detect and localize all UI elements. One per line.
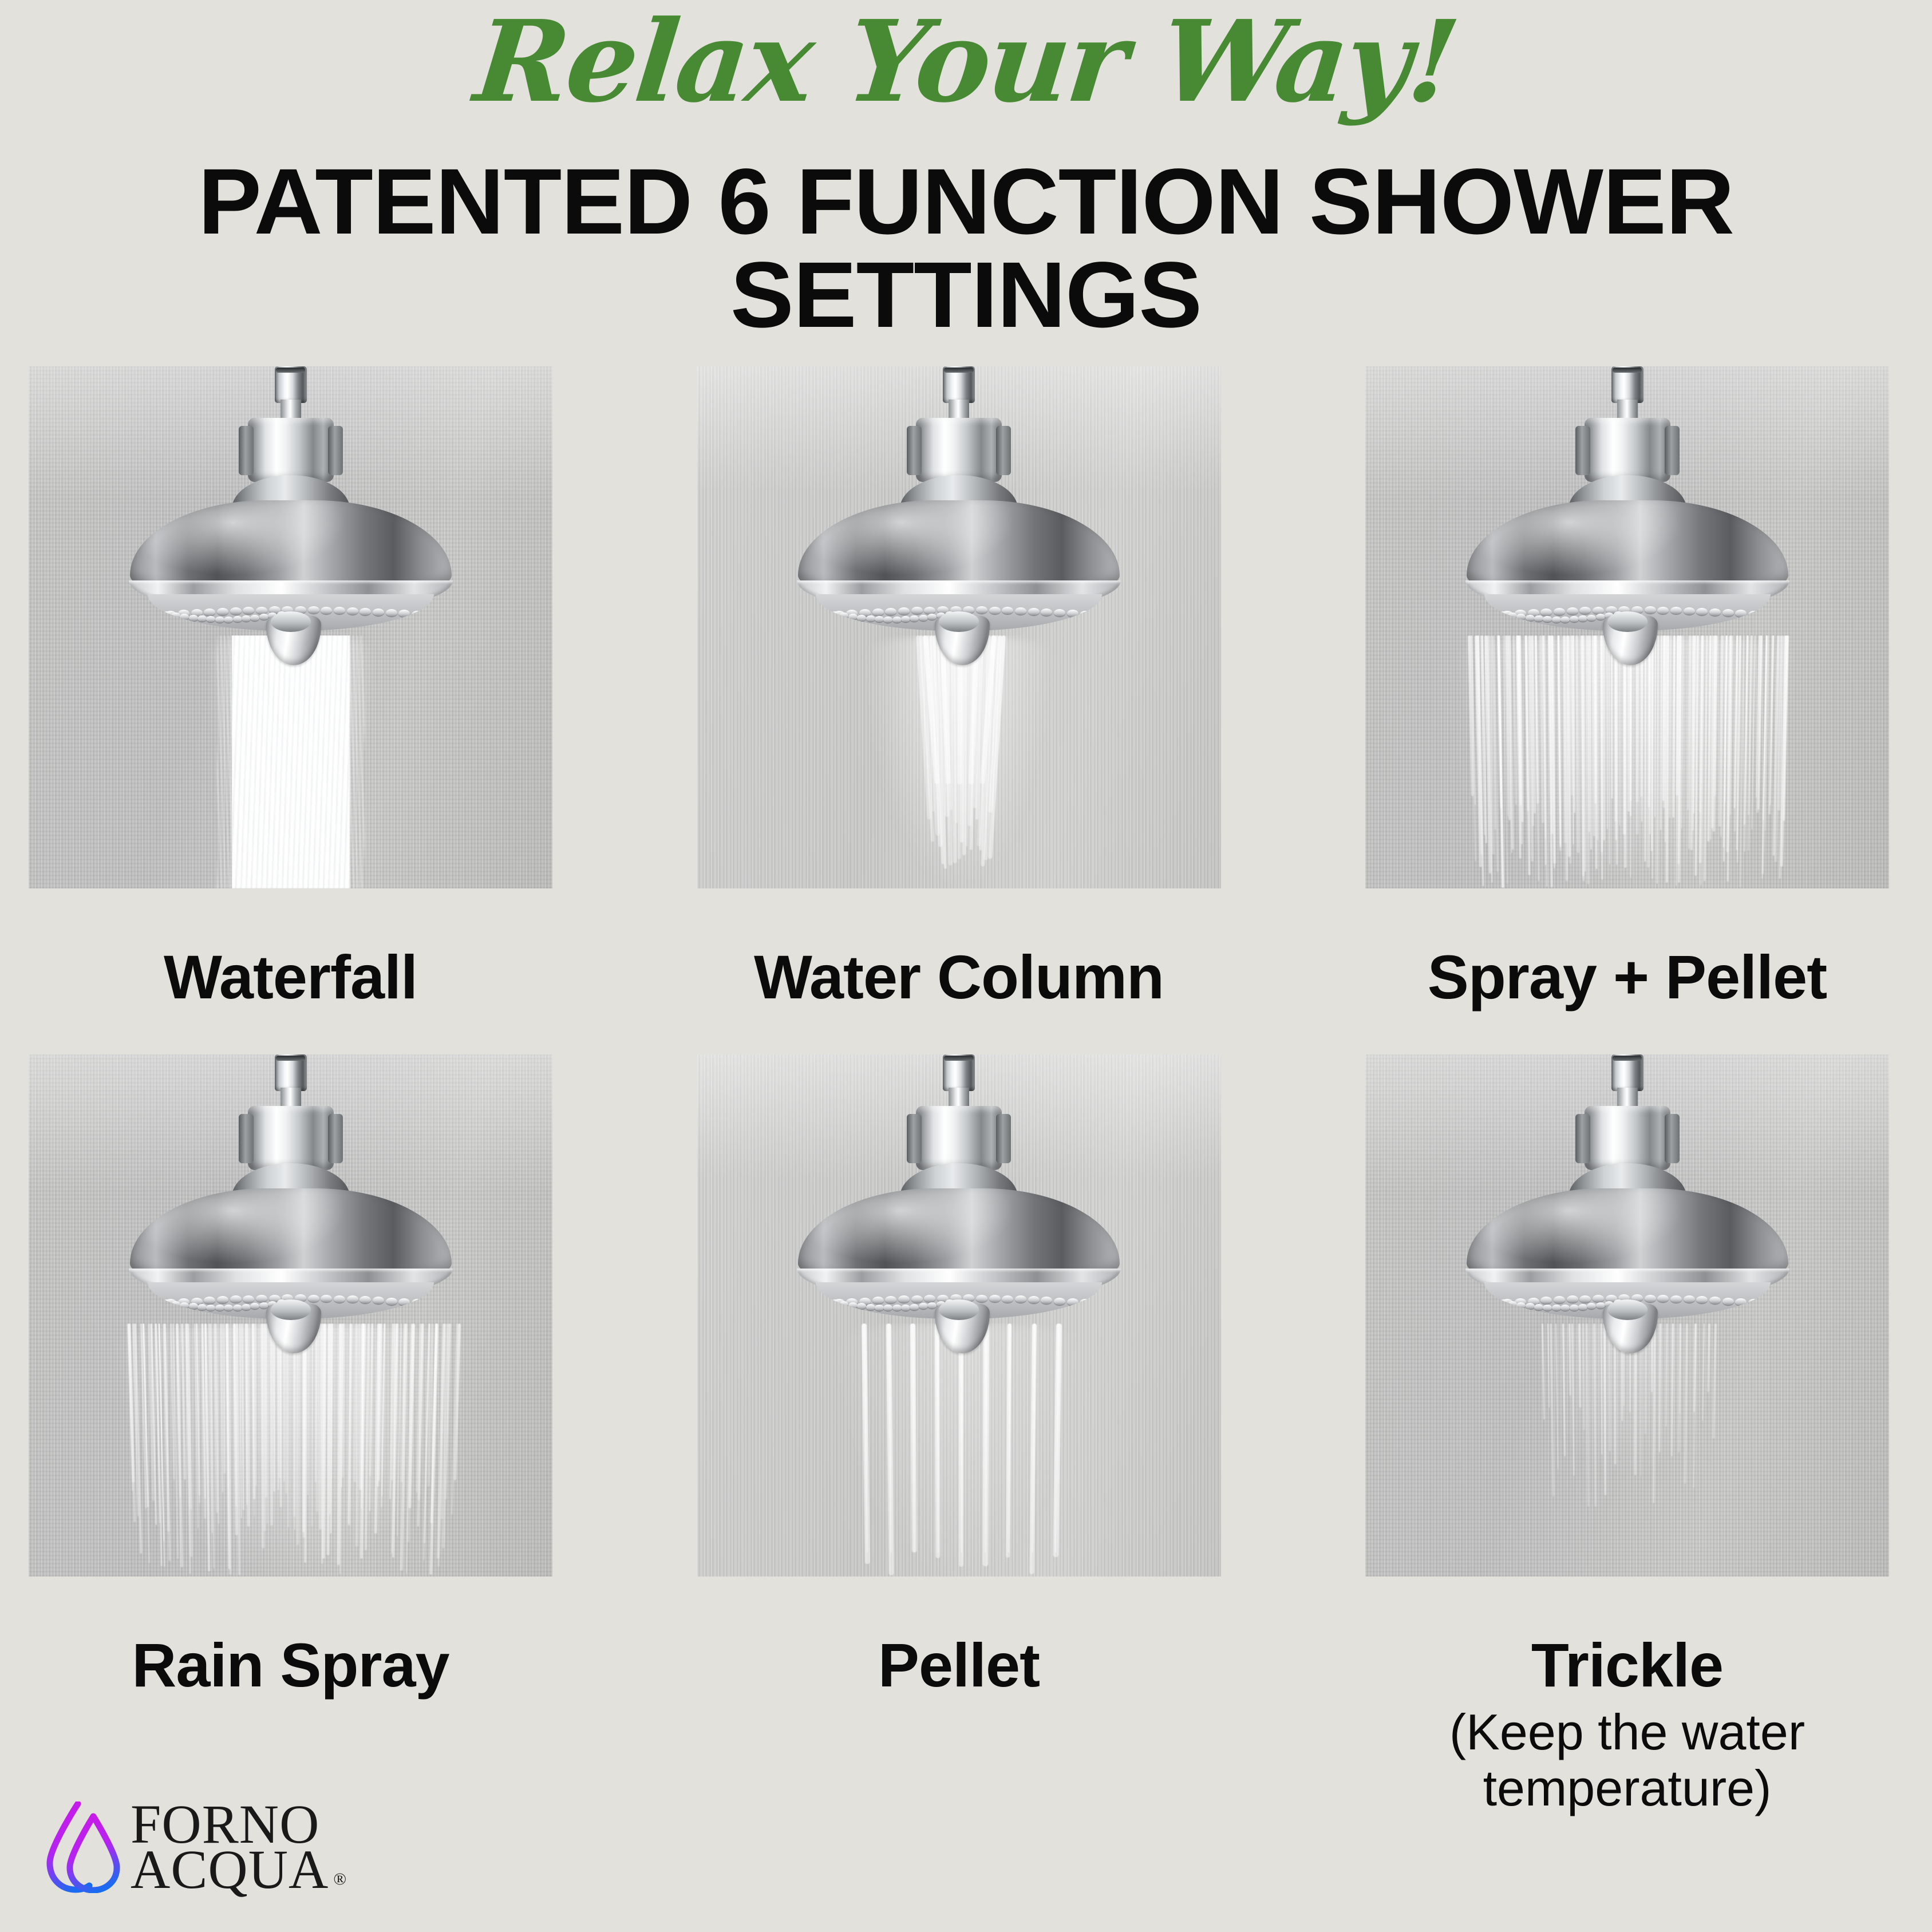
setting-label: Rain Spray (29, 1633, 552, 1698)
water-pattern-rain (29, 1323, 552, 1577)
shower-head-icon (1467, 366, 1788, 555)
shower-photo-water-column (697, 366, 1221, 888)
setting-sublabel: (Keep the watertemperature) (1365, 1704, 1889, 1817)
setting-card-trickle[interactable]: Trickle (Keep the watertemperature) (1365, 1054, 1889, 1817)
setting-card-water-column[interactable]: Water Column (697, 366, 1221, 1010)
logo-line-2: ACQUA (131, 1847, 329, 1893)
setting-label: Pellet (697, 1633, 1221, 1698)
page-title: PATENTED 6 FUNCTION SHOWER SETTINGS (0, 155, 1932, 341)
shower-head-icon (799, 366, 1119, 555)
water-pattern-spray-pellet (1365, 635, 1889, 888)
setting-card-waterfall[interactable]: Waterfall (29, 366, 552, 1010)
shower-photo-waterfall (29, 366, 552, 888)
shower-photo-spray-pellet (1365, 366, 1889, 888)
setting-label: Waterfall (29, 945, 552, 1010)
shower-head-icon (1467, 1054, 1788, 1243)
shower-photo-trickle (1365, 1054, 1889, 1577)
shower-head-icon (131, 1054, 451, 1243)
shower-photo-rain-spray (29, 1054, 552, 1577)
setting-card-pellet[interactable]: Pellet (697, 1054, 1221, 1817)
water-pattern-pellet (697, 1323, 1221, 1577)
settings-row-2: Rain Spray Pellet (29, 1054, 1889, 1817)
water-drop-icon (45, 1801, 121, 1893)
brand-logo: FORNO ACQUA ® (45, 1801, 347, 1893)
setting-card-rain-spray[interactable]: Rain Spray (29, 1054, 552, 1817)
water-pattern-column (697, 635, 1221, 888)
setting-label: Spray + Pellet (1365, 945, 1889, 1010)
water-pattern-waterfall (29, 635, 552, 888)
shower-head-icon (799, 1054, 1119, 1243)
water-pattern-trickle (1365, 1323, 1889, 1577)
shower-head-icon (131, 366, 451, 555)
settings-row-1: Waterfall Water Column (29, 366, 1889, 1010)
registered-trademark-icon: ® (333, 1872, 347, 1887)
setting-label: Water Column (697, 945, 1221, 1010)
setting-card-spray-pellet[interactable]: Spray + Pellet (1365, 366, 1889, 1010)
infographic-page: Relax Your Way! PATENTED 6 FUNCTION SHOW… (0, 0, 1932, 1932)
shower-photo-pellet (697, 1054, 1221, 1577)
script-headline: Relax Your Way! (0, 3, 1932, 121)
setting-label: Trickle (1365, 1633, 1889, 1698)
settings-grid: Waterfall Water Column (29, 366, 1906, 1817)
